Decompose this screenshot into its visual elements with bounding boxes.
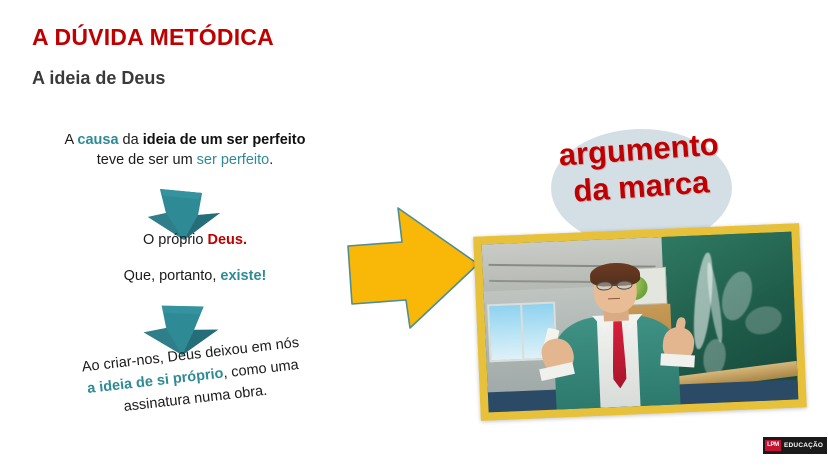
- p1-teal-serperfeito: ser perfeito: [197, 152, 270, 168]
- p1-text-4: .: [269, 152, 273, 168]
- p4-line2-rest: , como uma: [222, 357, 299, 381]
- p1-bold-ideia: ideia de um ser perfeito: [143, 132, 306, 148]
- paragraph-premise: A causa da ideia de um ser perfeito teve…: [20, 131, 350, 170]
- p3-teal-existe: existe!: [220, 268, 266, 284]
- p1-text-3: teve de ser um: [97, 152, 197, 168]
- paragraph-conclusion-2: Que, portanto, existe!: [80, 267, 310, 287]
- page-title: A DÚVIDA METÓDICA: [32, 24, 274, 51]
- p2-text: O próprio: [143, 232, 207, 248]
- logo-text: EDUCAÇÃO: [784, 442, 823, 449]
- right-arrow-icon: [336, 200, 484, 332]
- illustration-frame: [473, 223, 806, 420]
- headline-line-2: da marca: [572, 164, 710, 208]
- illustration-teacher-chalkboard: [473, 223, 806, 420]
- p1-teal-causa: causa: [77, 132, 118, 148]
- p2-red-deus: Deus.: [207, 232, 247, 248]
- logo-mark: LPM: [765, 440, 781, 451]
- p1-text-1: A: [65, 132, 78, 148]
- shirt-cuff: [660, 353, 695, 367]
- brand-logo: LPM EDUCAÇÃO: [763, 437, 827, 454]
- eyeglass-bridge: [612, 284, 618, 285]
- p3-text: Que, portanto,: [124, 268, 221, 284]
- slide-canvas: A DÚVIDA METÓDICA A ideia de Deus A caus…: [0, 0, 828, 466]
- p1-text-2: da: [119, 132, 143, 148]
- paragraph-conclusion-1: O próprio Deus.: [70, 231, 320, 251]
- illustration-image: [482, 232, 799, 413]
- page-subtitle: A ideia de Deus: [32, 68, 165, 89]
